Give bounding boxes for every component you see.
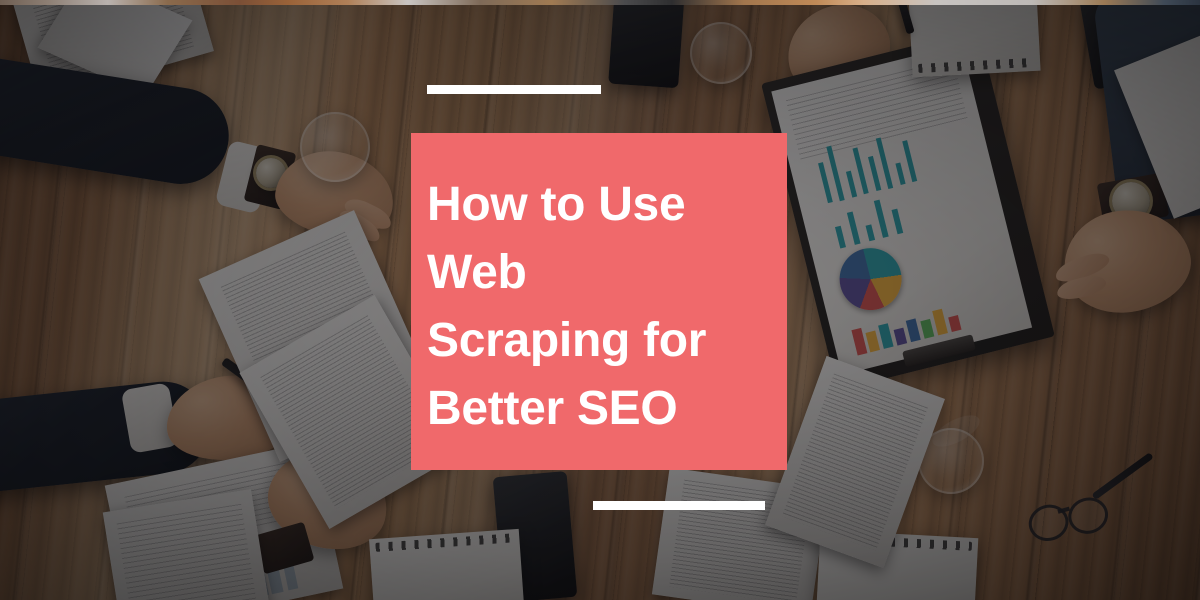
accent-rule-top (427, 85, 601, 94)
title-card: How to Use Web Scraping for Better SEO (411, 133, 787, 470)
top-edge-strip (0, 0, 1200, 5)
accent-rule-bottom (593, 501, 765, 510)
banner-image: How to Use Web Scraping for Better SEO (0, 0, 1200, 600)
page-title: How to Use Web Scraping for Better SEO (427, 171, 757, 443)
